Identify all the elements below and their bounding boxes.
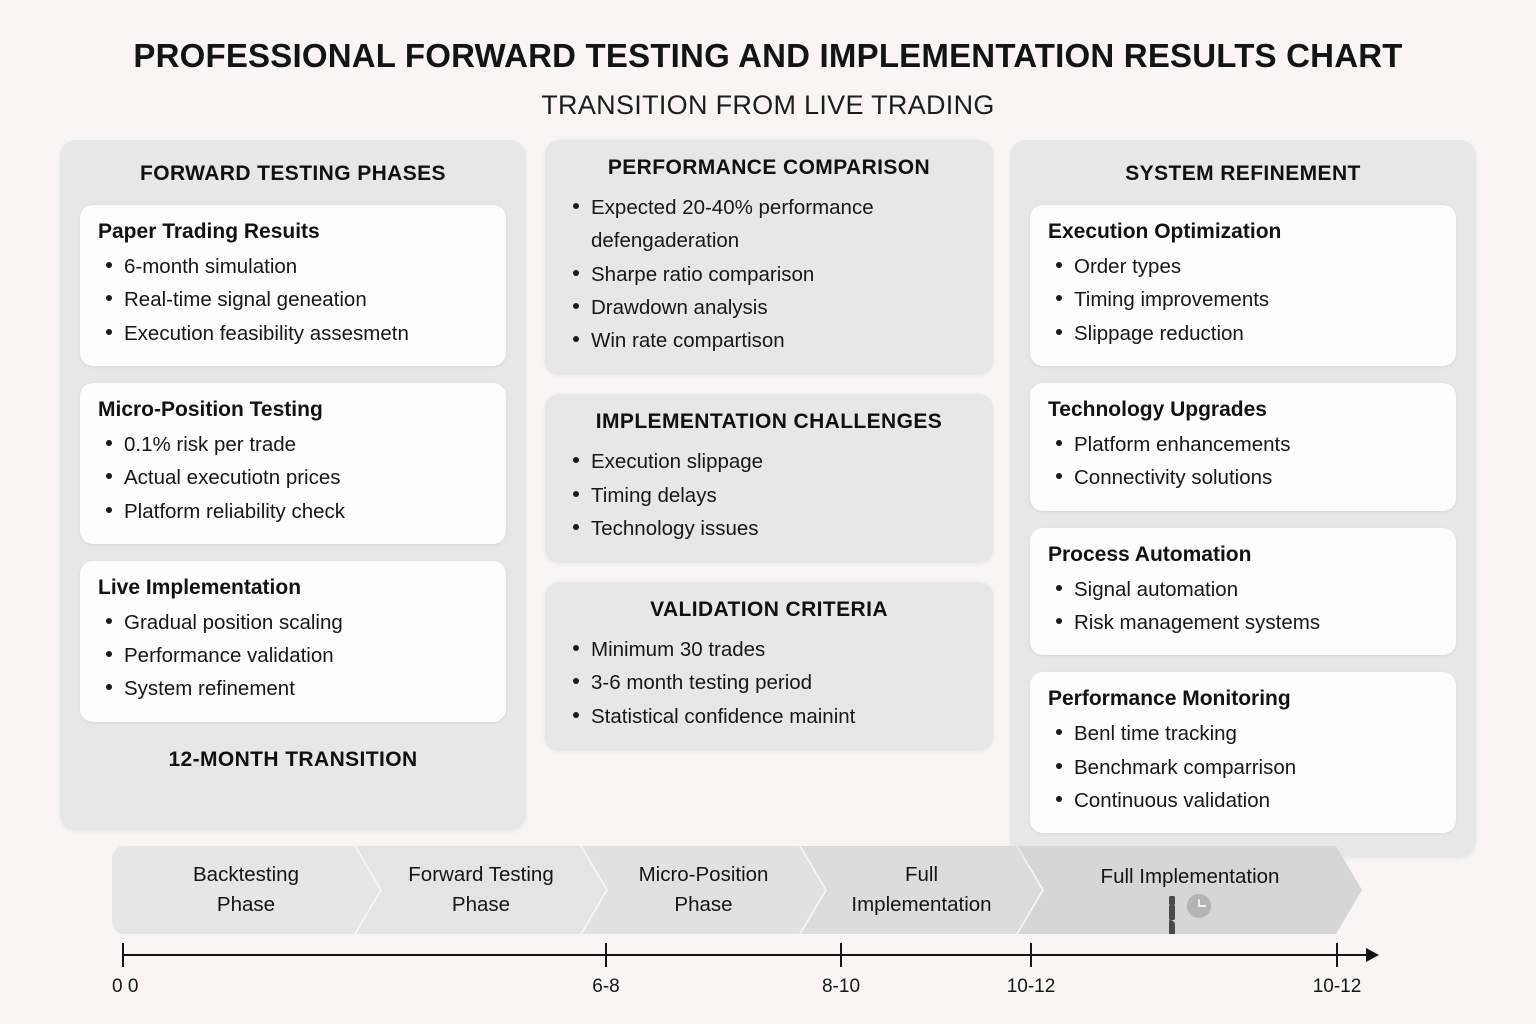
axis-tick xyxy=(840,943,842,967)
timeline-phase-forward-testing[interactable]: Forward Testing Phase xyxy=(356,846,606,934)
bullet-list: Platform enhancements Connectivity solut… xyxy=(1048,428,1438,494)
list-item: Gradual position scaling xyxy=(98,606,488,639)
card-title: PERFORMANCE COMPARISON xyxy=(565,155,973,180)
card-title: Process Automation xyxy=(1048,542,1438,568)
list-item: Execution slippage xyxy=(565,445,973,478)
list-item: Slippage reduction xyxy=(1048,317,1438,350)
axis-line xyxy=(122,954,1372,956)
card-live-implementation[interactable]: Live Implementation Gradual position sca… xyxy=(80,561,506,722)
list-item: Benchmark comparrison xyxy=(1048,751,1438,784)
panel-system-refinement: SYSTEM REFINEMENT Execution Optimization… xyxy=(1010,140,1476,857)
card-title: Paper Trading Resuits xyxy=(98,219,488,245)
list-item: Benl time tracking xyxy=(1048,717,1438,750)
card-performance-monitoring[interactable]: Performance Monitoring Benl time trackin… xyxy=(1030,672,1456,833)
card-performance-comparison[interactable]: PERFORMANCE COMPARISON Expected 20-40% p… xyxy=(545,140,993,375)
bullet-list: Execution slippage Timing delays Technol… xyxy=(565,445,973,545)
list-item: Signal automation xyxy=(1048,573,1438,606)
axis-tick-label: 6-8 xyxy=(592,976,619,998)
list-item: 6-month simulation xyxy=(98,250,488,283)
axis-tick-label: 0 0 xyxy=(112,976,138,998)
bullet-list: Signal automation Risk management system… xyxy=(1048,573,1438,639)
card-title: Performance Monitoring xyxy=(1048,686,1438,712)
bullet-list: Order types Timing improvements Slippage… xyxy=(1048,250,1438,350)
bullet-list: Benl time tracking Benchmark comparrison… xyxy=(1048,717,1438,817)
timeline-phase-micro-position[interactable]: Micro-Position Phase xyxy=(582,846,825,934)
phase-label-line2: Phase xyxy=(452,890,510,920)
list-item: Execution feasibility assesmetn xyxy=(98,317,488,350)
card-validation-criteria[interactable]: VALIDATION CRITERIA Minimum 30 trades 3-… xyxy=(545,582,993,751)
bullet-list: Expected 20-40% performance defengaderat… xyxy=(565,191,973,357)
card-title: Micro-Position Testing xyxy=(98,397,488,423)
list-item: Win rate compartison xyxy=(565,324,973,357)
axis-arrow-icon xyxy=(1366,948,1379,962)
card-title: VALIDATION CRITERIA xyxy=(565,597,973,622)
phase-label-line2: Phase xyxy=(674,890,732,920)
card-implementation-challenges[interactable]: IMPLEMENTATION CHALLENGES Execution slip… xyxy=(545,394,993,563)
list-item: Sharpe ratio comparison xyxy=(565,258,973,291)
list-item: Drawdown analysis xyxy=(565,291,973,324)
list-item: Actual executiotn prices xyxy=(98,461,488,494)
list-item: 3-6 month testing period xyxy=(565,666,973,699)
phase-label-line1: Micro-Position xyxy=(639,860,769,890)
card-title: Live Implementation xyxy=(98,575,488,601)
card-micro-position-testing[interactable]: Micro-Position Testing 0.1% risk per tra… xyxy=(80,383,506,544)
panel-title-forward-testing-phases: FORWARD TESTING PHASES xyxy=(80,162,506,186)
axis-tick xyxy=(1030,943,1032,967)
page-header: PROFESSIONAL FORWARD TESTING AND IMPLEME… xyxy=(0,0,1536,121)
phase-label-line1: Forward Testing xyxy=(408,860,553,890)
phase-label-line2: Phase xyxy=(217,890,275,920)
list-item: Order types xyxy=(1048,250,1438,283)
list-item: Minimum 30 trades xyxy=(565,633,973,666)
chart-page: PROFESSIONAL FORWARD TESTING AND IMPLEME… xyxy=(0,0,1536,1024)
list-item: Technology issues xyxy=(565,512,973,545)
card-execution-optimization[interactable]: Execution Optimization Order types Timin… xyxy=(1030,205,1456,366)
phase-label-line1: Backtesting xyxy=(193,860,299,890)
bullet-list: Minimum 30 trades 3-6 month testing peri… xyxy=(565,633,973,733)
axis-tick-label: 8-10 xyxy=(822,976,860,998)
list-item: Statistical confidence mainint xyxy=(565,700,973,733)
axis-tick-label: 10-12 xyxy=(1313,976,1362,998)
list-item: Continuous validation xyxy=(1048,784,1438,817)
transition-duration-label: 12-MONTH TRANSITION xyxy=(80,748,506,772)
list-item: Real-time signal geneation xyxy=(98,283,488,316)
panel-title-system-refinement: SYSTEM REFINEMENT xyxy=(1030,162,1456,186)
card-title: IMPLEMENTATION CHALLENGES xyxy=(565,409,973,434)
list-item: Timing delays xyxy=(565,479,973,512)
phase-label-line1: Full xyxy=(905,860,938,890)
axis-tick xyxy=(605,943,607,967)
phase-icons xyxy=(1169,894,1211,918)
phase-timeline: Backtesting Phase Forward Testing Phase … xyxy=(112,846,1400,934)
list-item: Platform enhancements xyxy=(1048,428,1438,461)
card-title: Technology Upgrades xyxy=(1048,397,1438,423)
list-item: Platform reliability check xyxy=(98,495,488,528)
list-item: 0.1% risk per trade xyxy=(98,428,488,461)
list-item: Timing improvements xyxy=(1048,283,1438,316)
clock-icon xyxy=(1187,894,1211,918)
axis-tick xyxy=(1336,943,1338,967)
list-item: Connectivity solutions xyxy=(1048,461,1438,494)
panel-forward-testing-phases: FORWARD TESTING PHASES Paper Trading Res… xyxy=(60,140,526,830)
phase-label-line2: Implementation xyxy=(851,890,991,920)
page-title: PROFESSIONAL FORWARD TESTING AND IMPLEME… xyxy=(0,38,1536,74)
timeline-axis: 0 0 6-8 8-10 10-12 10-12 xyxy=(0,938,1536,1008)
page-subtitle: TRANSITION FROM LIVE TRADING xyxy=(0,90,1536,121)
column-system-refinement: SYSTEM REFINEMENT Execution Optimization… xyxy=(1010,140,1476,857)
bar-chart-icon xyxy=(1169,896,1175,916)
list-item: System refinement xyxy=(98,672,488,705)
phase-label-line1: Full Implementation xyxy=(1101,862,1280,892)
list-item: Expected 20-40% performance defengaderat… xyxy=(565,191,973,257)
timeline-phase-backtesting[interactable]: Backtesting Phase xyxy=(112,846,380,934)
content-columns: FORWARD TESTING PHASES Paper Trading Res… xyxy=(60,140,1476,840)
bullet-list: 0.1% risk per trade Actual executiotn pr… xyxy=(98,428,488,528)
bullet-list: 6-month simulation Real-time signal gene… xyxy=(98,250,488,350)
card-technology-upgrades[interactable]: Technology Upgrades Platform enhancement… xyxy=(1030,383,1456,511)
card-paper-trading-results[interactable]: Paper Trading Resuits 6-month simulation… xyxy=(80,205,506,366)
timeline-phase-full-implementation-final[interactable]: Full Implementation xyxy=(1018,846,1362,934)
list-item: Risk management systems xyxy=(1048,606,1438,639)
card-process-automation[interactable]: Process Automation Signal automation Ris… xyxy=(1030,528,1456,656)
axis-tick xyxy=(122,943,124,967)
column-performance-and-validation: PERFORMANCE COMPARISON Expected 20-40% p… xyxy=(545,140,993,751)
column-forward-testing-phases: FORWARD TESTING PHASES Paper Trading Res… xyxy=(60,140,526,830)
timeline-phase-full-implementation[interactable]: Full Implementation xyxy=(801,846,1042,934)
bullet-list: Gradual position scaling Performance val… xyxy=(98,606,488,706)
axis-tick-label: 10-12 xyxy=(1007,976,1056,998)
list-item: Performance validation xyxy=(98,639,488,672)
card-title: Execution Optimization xyxy=(1048,219,1438,245)
